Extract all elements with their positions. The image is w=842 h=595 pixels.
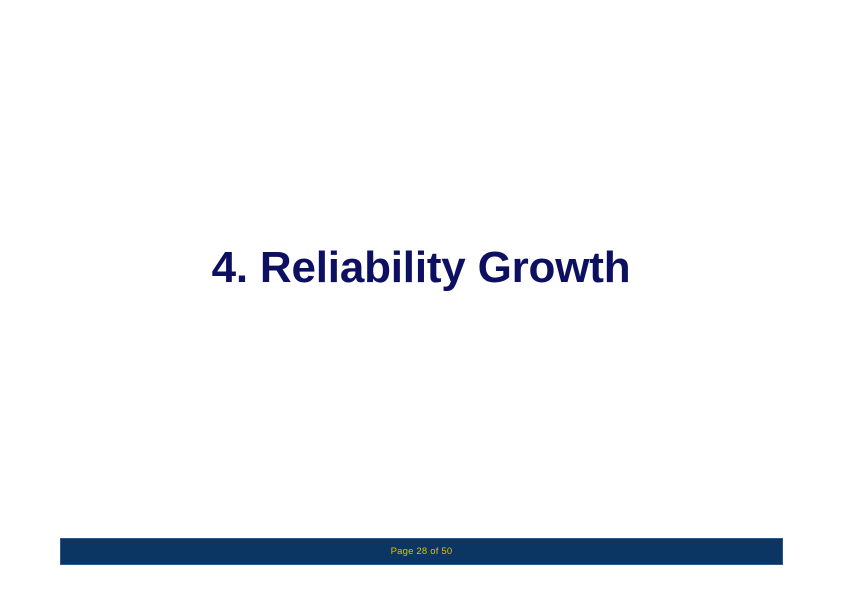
page-number-label: Page 28 of 50	[391, 547, 453, 557]
title-area: 4. Reliability Growth	[0, 238, 842, 298]
page-title: 4. Reliability Growth	[212, 246, 631, 290]
footer-bar: Page 28 of 50	[60, 538, 783, 565]
slide-canvas: 4. Reliability Growth Page 28 of 50	[0, 0, 842, 595]
